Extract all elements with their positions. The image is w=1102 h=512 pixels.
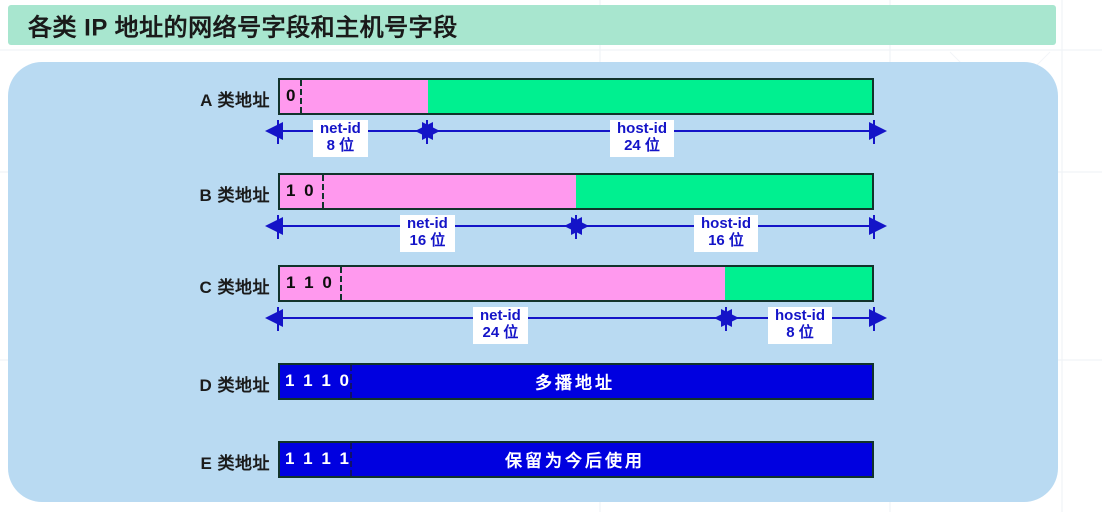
host-id-width-b: 16 位	[701, 233, 751, 250]
measure-arrows-layer	[0, 0, 1102, 512]
leading-bits-a: 0	[286, 86, 297, 106]
row-label-d: D 类地址	[130, 371, 270, 396]
segment-net-id-a	[280, 80, 428, 113]
measure-label-host-id-b: host-id 16 位	[694, 215, 758, 252]
address-bar-a	[278, 78, 874, 115]
row-label-a: A 类地址	[130, 86, 270, 111]
segment-net-id-c	[280, 267, 725, 300]
net-id-width-a: 8 位	[320, 138, 361, 155]
measure-label-net-id-c: net-id 24 位	[473, 307, 528, 344]
leading-bits-e: 1 1 1 1	[285, 449, 351, 469]
host-id-width-a: 24 位	[617, 138, 667, 155]
leading-bits-c: 1 1 0	[286, 273, 334, 293]
row-label-e: E 类地址	[130, 449, 270, 474]
net-id-width-c: 24 位	[480, 325, 521, 342]
net-id-title-c: net-id	[480, 307, 521, 324]
measure-label-net-id-a: net-id 8 位	[313, 120, 368, 157]
segment-host-id-c	[725, 267, 872, 300]
net-id-width-b: 16 位	[407, 233, 448, 250]
measure-label-host-id-a: host-id 24 位	[610, 120, 674, 157]
net-id-title-b: net-id	[407, 215, 448, 232]
leading-bits-d: 1 1 1 0	[285, 371, 351, 391]
host-id-title-b: host-id	[701, 215, 751, 232]
host-id-title-a: host-id	[617, 120, 667, 137]
bar-caption-e: 保留为今后使用	[505, 447, 645, 472]
ip-class-diagram: A 类地址 0 net-id 8 位 host-id 24 位 B 类地址 1 …	[0, 0, 1102, 512]
row-label-b: B 类地址	[130, 181, 270, 206]
segment-net-id-b	[280, 175, 576, 208]
measure-label-host-id-c: host-id 8 位	[768, 307, 832, 344]
segment-host-id-b	[576, 175, 872, 208]
measure-label-net-id-b: net-id 16 位	[400, 215, 455, 252]
leading-bits-b: 1 0	[286, 181, 316, 201]
address-bar-b	[278, 173, 874, 210]
host-id-width-c: 8 位	[775, 325, 825, 342]
bit-divider-a	[300, 80, 302, 113]
address-bar-c	[278, 265, 874, 302]
host-id-title-c: host-id	[775, 307, 825, 324]
row-label-c: C 类地址	[130, 273, 270, 298]
bar-caption-d: 多播地址	[535, 369, 615, 394]
net-id-title-a: net-id	[320, 120, 361, 137]
bit-divider-b	[322, 175, 324, 208]
bit-divider-c	[340, 267, 342, 300]
segment-host-id-a	[428, 80, 872, 113]
